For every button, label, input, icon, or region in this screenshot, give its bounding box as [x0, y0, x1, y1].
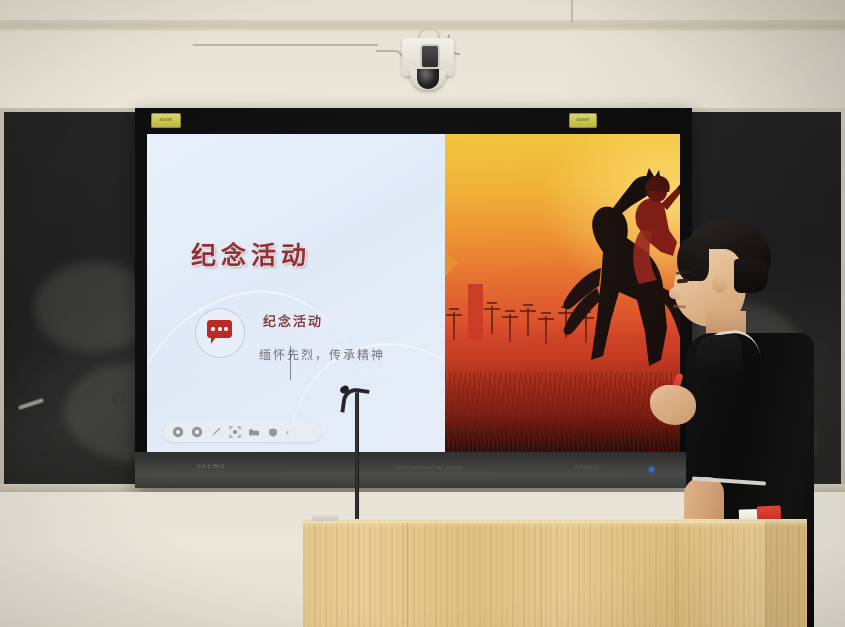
display-model-label: interactive flat panel	[397, 465, 463, 471]
display-screen[interactable]: 纪念活动 纪念活动 缅怀先烈，传承精神	[147, 134, 680, 452]
sticker-label: asset	[152, 114, 180, 127]
podium-panel-seam	[675, 523, 676, 627]
podium-panel-seam	[541, 523, 542, 627]
display-top-bezel: asset asset	[135, 108, 692, 134]
shirt-collar	[696, 335, 742, 383]
hair-fringe	[677, 237, 709, 281]
interactive-flat-panel[interactable]: asset asset 纪念活动 纪念活动 缅怀先烈，传承精神	[135, 108, 692, 488]
wall-shadow	[560, 0, 845, 116]
chalk-streak	[18, 398, 44, 410]
spotlight-icon[interactable]	[267, 426, 279, 438]
display-brand-label: SEEWO	[197, 464, 225, 470]
podium-panel-seam	[407, 523, 408, 627]
camera-lens-icon	[420, 44, 440, 69]
camera-cable-run	[193, 44, 378, 46]
slide-divider-arrow	[445, 245, 458, 282]
collapse-toolbar-icon[interactable]: ‹	[286, 428, 289, 437]
podium-right-edge	[765, 521, 807, 627]
asset-sticker-right: asset	[569, 113, 597, 128]
ceiling-camera	[398, 22, 458, 90]
ear	[712, 273, 727, 293]
eye	[677, 279, 688, 284]
camera-cable-bend	[376, 50, 404, 68]
slide-toolbar[interactable]: ‹	[163, 422, 321, 442]
capture-icon[interactable]	[191, 426, 203, 438]
slide-bullet-body: 缅怀先烈，传承精神	[259, 346, 385, 363]
lips	[673, 304, 686, 308]
speech-bubble-dots	[211, 327, 228, 331]
wooden-lectern	[303, 521, 807, 627]
slide-left-panel: 纪念活动 纪念活动 缅怀先烈，传承精神	[147, 134, 445, 452]
display-bottom-bezel: SEEWO interactive flat panel POWER	[135, 452, 692, 488]
slide-title: 纪念活动	[191, 236, 311, 272]
pen-icon[interactable]	[210, 426, 222, 438]
bezel-seam	[290, 346, 291, 380]
slide-bullet-heading: 纪念活动	[263, 311, 323, 330]
select-icon[interactable]	[229, 426, 241, 438]
folder-icon[interactable]	[248, 426, 260, 438]
slide-illustration	[445, 134, 680, 452]
nose	[669, 287, 681, 299]
blackboard-knob	[114, 394, 123, 403]
hair-nape	[734, 259, 768, 293]
podium-clip	[312, 513, 338, 521]
classroom-photo-scene: asset asset 纪念活动 纪念活动 缅怀先烈，传承精神	[0, 0, 845, 627]
asset-sticker-left: asset	[151, 113, 181, 128]
display-power-label: POWER	[575, 465, 599, 471]
sticker-label: asset	[570, 114, 596, 127]
record-icon[interactable]	[172, 426, 184, 438]
power-led-indicator	[649, 467, 654, 472]
